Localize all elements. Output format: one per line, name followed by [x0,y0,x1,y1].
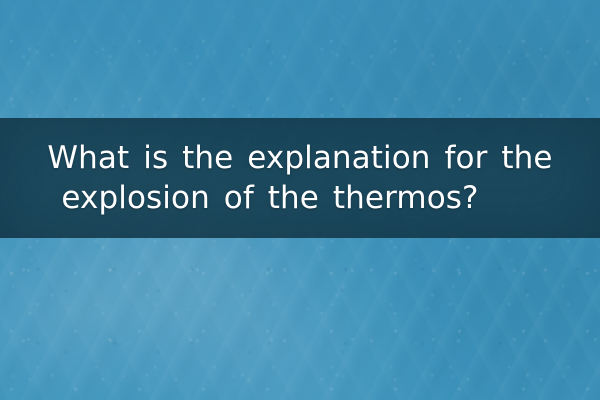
caption-band: What is the explanation for the explosio… [0,118,600,238]
caption-line-2: explosion of the thermos? [61,178,478,218]
image-canvas: What is the explanation for the explosio… [0,0,600,400]
caption-line-1: What is the explanation for the [47,138,552,178]
